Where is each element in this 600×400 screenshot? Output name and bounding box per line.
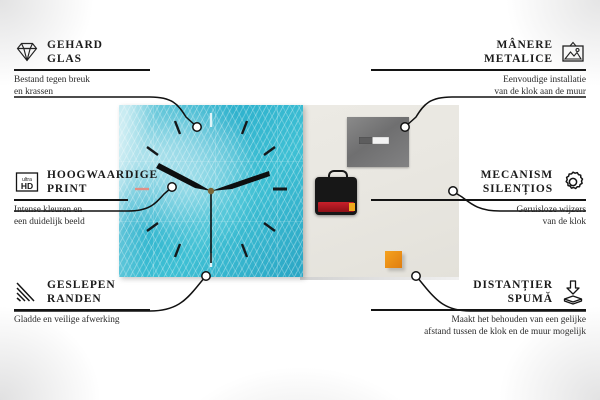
diamond-icon (14, 39, 40, 65)
feature-rule (14, 199, 128, 201)
feature-geslepen-randen: GESLEPEN RANDEN Gladde en veilige afwerk… (14, 278, 229, 326)
quartz-movement (315, 177, 357, 215)
feature-description: Bestand tegen breuk en krassen (14, 74, 229, 99)
feature-description: Gladde en veilige afwerking (14, 314, 229, 327)
feature-header: ultra HD HOOGWAARDIGE PRINT (14, 168, 229, 196)
feature-title: GEHARD GLAS (47, 38, 103, 66)
feature-rule (14, 69, 150, 71)
feature-header: GESLEPEN RANDEN (14, 278, 229, 306)
feature-description: Eenvoudige installatie van de klok aan d… (371, 74, 586, 99)
svg-text:HD: HD (21, 181, 33, 191)
feature-title: DISTANȚIER SPUMĂ (473, 278, 553, 306)
feature-description: Intense kleuren en een duidelijk beeld (14, 204, 229, 229)
feature-rule (371, 199, 586, 201)
feature-title: MÂNERE METALICE (484, 38, 553, 66)
feature-description: Maakt het behouden van een gelijke afsta… (371, 314, 586, 339)
foam-spacer (385, 251, 402, 268)
feature-title: MECANISM SILENȚIOS (481, 168, 553, 196)
feature-header: DISTANȚIER SPUMĂ (371, 278, 586, 306)
infographic-canvas: GEHARD GLAS Bestand tegen breuk en krass… (0, 0, 600, 400)
feature-rule (14, 309, 150, 311)
feature-gehard-glas: GEHARD GLAS Bestand tegen breuk en krass… (14, 38, 229, 99)
hanger-slot (359, 137, 389, 144)
press-down-arrow-icon (560, 279, 586, 305)
feature-title: HOOGWAARDIGE PRINT (47, 168, 158, 196)
feature-title: GESLEPEN RANDEN (47, 278, 116, 306)
feature-description: Geruisloze wijzers van de klok (371, 204, 586, 229)
gear-icon (560, 169, 586, 195)
picture-frame-icon (560, 39, 586, 65)
feature-header: MECANISM SILENȚIOS (371, 168, 586, 196)
movement-shaft (328, 170, 348, 180)
bevelled-edge-icon (14, 279, 40, 305)
battery (318, 202, 354, 212)
ultra-hd-icon: ultra HD (14, 169, 40, 195)
feature-rule (371, 309, 586, 311)
feature-distantier-spuma: DISTANȚIER SPUMĂ Maakt het behouden van … (371, 278, 586, 339)
feature-mecanism-silentios: MECANISM SILENȚIOS Geruisloze wijzers va… (371, 168, 586, 229)
feature-manere-metalice: MÂNERE METALICE Eenvoudige installatie v… (371, 38, 586, 99)
metal-hanger-plate (347, 117, 409, 167)
feature-hoogwaardige-print: ultra HD HOOGWAARDIGE PRINT Intense kleu… (14, 168, 229, 229)
feature-header: MÂNERE METALICE (371, 38, 586, 66)
feature-rule (371, 69, 586, 71)
feature-header: GEHARD GLAS (14, 38, 229, 66)
